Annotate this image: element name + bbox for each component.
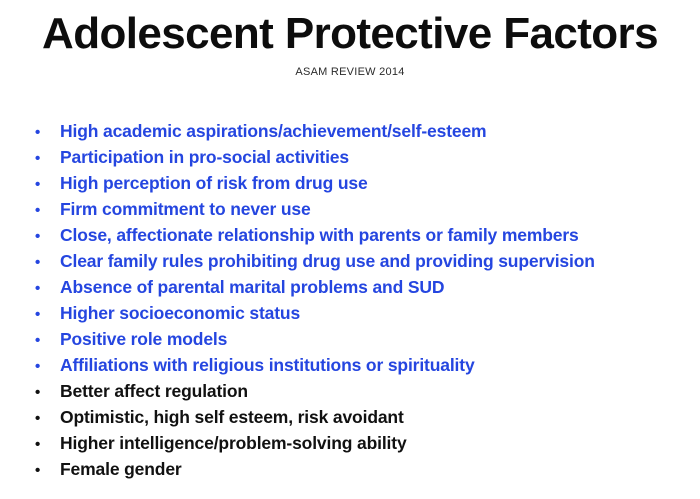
list-item-label: Absence of parental marital problems and… [60,274,444,300]
list-item: •Positive role models [30,326,688,352]
bullet-point-icon: • [30,224,60,250]
bullet-point-icon: • [30,328,60,354]
list-item-label: Firm commitment to never use [60,196,311,222]
list-item: •Clear family rules prohibiting drug use… [30,248,688,274]
list-item-label: High academic aspirations/achievement/se… [60,118,486,144]
bullet-point-icon: • [30,354,60,380]
list-item: •Participation in pro-social activities [30,144,688,170]
bullet-point-icon: • [30,120,60,146]
list-item: •Higher socioeconomic status [30,300,688,326]
list-item: •Higher intelligence/problem-solving abi… [30,430,688,456]
list-item: •Female gender [30,456,688,482]
list-item-label: Female gender [60,456,182,482]
list-item: •Firm commitment to never use [30,196,688,222]
bullet-point-icon: • [30,276,60,302]
list-item-label: Clear family rules prohibiting drug use … [60,248,595,274]
bullet-point-icon: • [30,198,60,224]
slide-canvas: Adolescent Protective Factors ASAM REVIE… [0,0,700,499]
list-item-label: Optimistic, high self esteem, risk avoid… [60,404,404,430]
list-item: •Affiliations with religious institution… [30,352,688,378]
list-item: •High perception of risk from drug use [30,170,688,196]
list-item-label: Higher intelligence/problem-solving abil… [60,430,407,456]
bullet-point-icon: • [30,146,60,172]
list-item: •Close, affectionate relationship with p… [30,222,688,248]
list-item: •Better affect regulation [30,378,688,404]
list-item-label: Affiliations with religious institutions… [60,352,475,378]
list-item: •High academic aspirations/achievement/s… [30,118,688,144]
list-item-label: Close, affectionate relationship with pa… [60,222,579,248]
protective-factors-list: •High academic aspirations/achievement/s… [30,118,688,482]
list-item: •Optimistic, high self esteem, risk avoi… [30,404,688,430]
list-item-label: Higher socioeconomic status [60,300,300,326]
list-item-label: Positive role models [60,326,227,352]
bullet-point-icon: • [30,172,60,198]
bullet-point-icon: • [30,250,60,276]
list-item-label: Better affect regulation [60,378,248,404]
slide-subtitle: ASAM REVIEW 2014 [0,66,700,78]
bullet-point-icon: • [30,380,60,406]
bullet-point-icon: • [30,302,60,328]
bullet-point-icon: • [30,406,60,432]
page-title: Adolescent Protective Factors [0,10,700,58]
title-block: Adolescent Protective Factors ASAM REVIE… [0,0,700,78]
bullet-point-icon: • [30,432,60,458]
list-item: •Absence of parental marital problems an… [30,274,688,300]
bullet-point-icon: • [30,458,60,484]
list-item-label: High perception of risk from drug use [60,170,368,196]
list-item-label: Participation in pro-social activities [60,144,349,170]
